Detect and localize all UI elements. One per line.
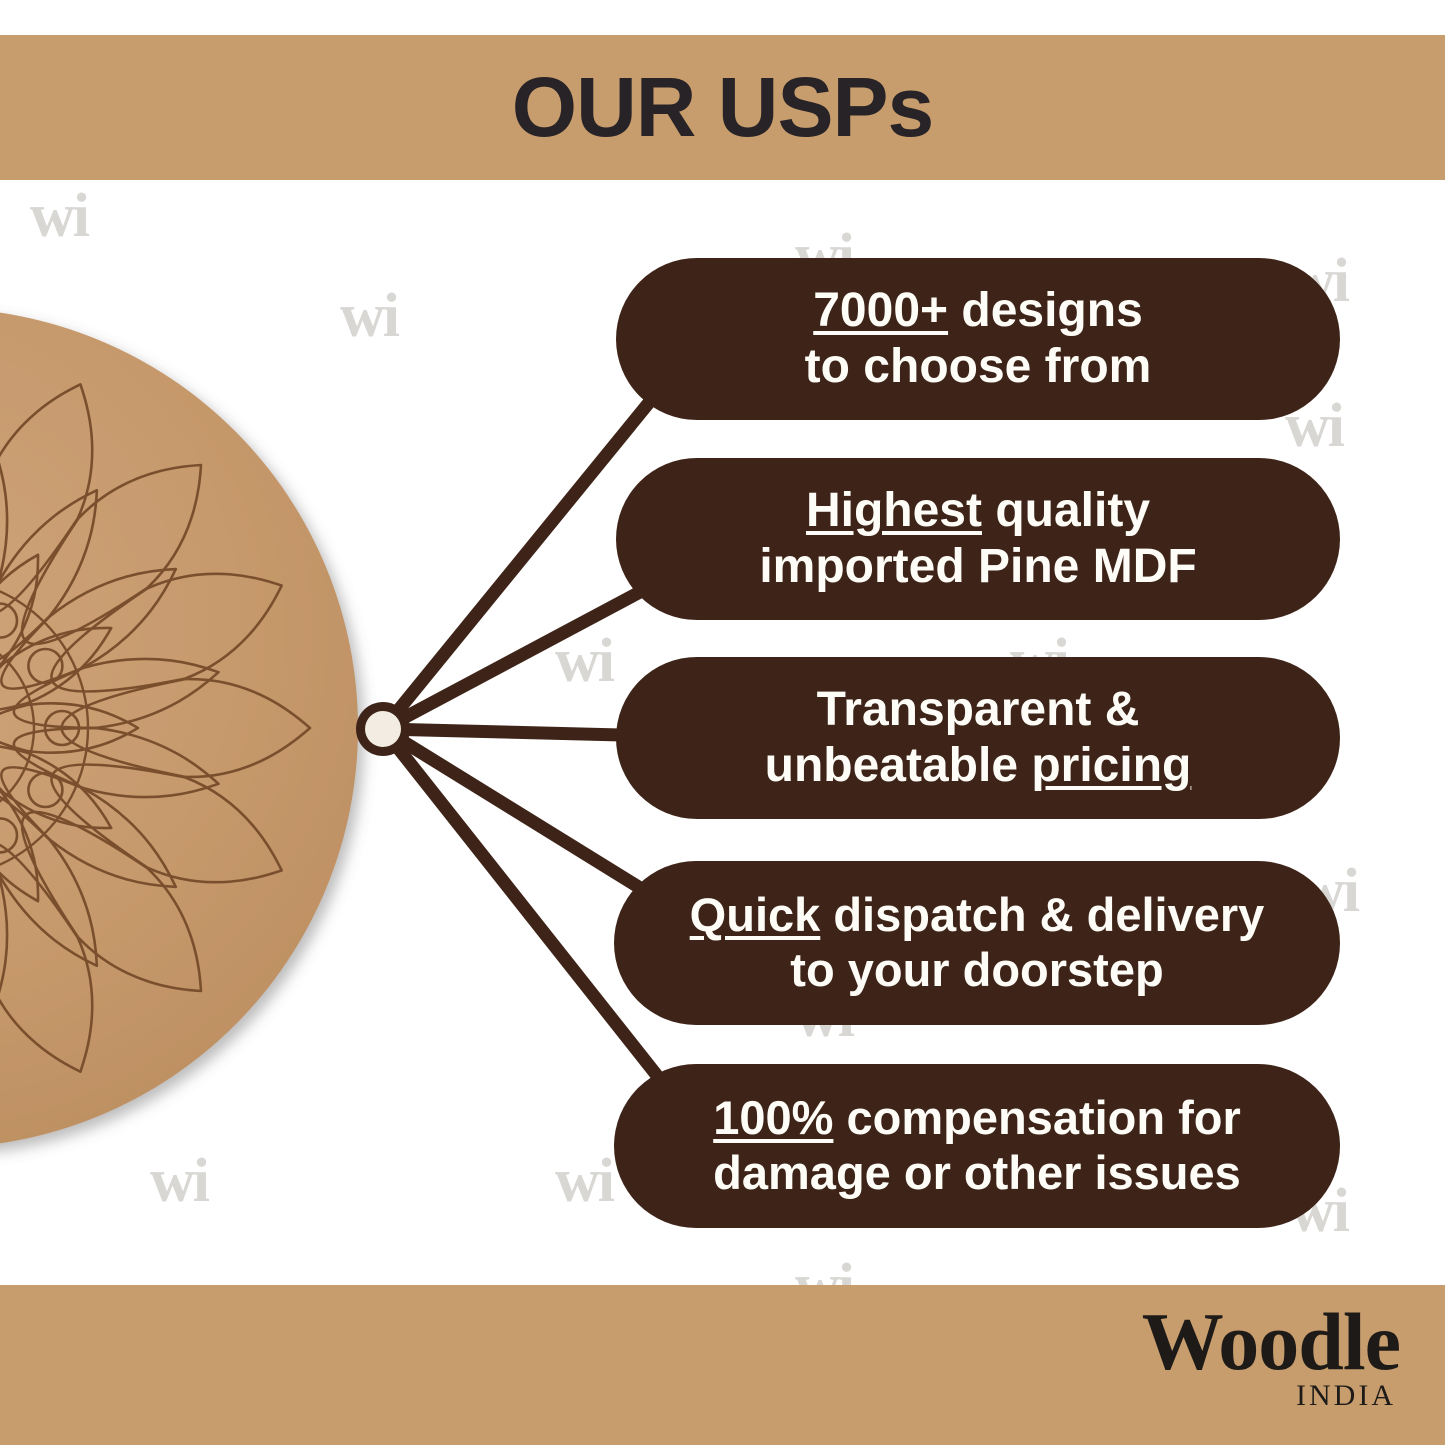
usp-pill-dispatch-line-2: to your doorstep bbox=[790, 943, 1163, 998]
usp-highlight: Highest bbox=[806, 484, 982, 537]
page-title: OUR USPs bbox=[512, 59, 933, 156]
infographic-canvas: wiwiwiwiwiwiwiwiwiwiwiwiwiwiwi bbox=[0, 0, 1445, 1445]
usp-highlight: 100% bbox=[713, 1091, 833, 1144]
usp-pill-designs[interactable]: 7000+ designsto choose from bbox=[616, 258, 1340, 420]
usp-text: imported Pine MDF bbox=[759, 540, 1196, 593]
usp-text: to choose from bbox=[805, 340, 1152, 393]
usp-highlight: Quick bbox=[690, 888, 821, 941]
usp-pill-quality[interactable]: Highest qualityimported Pine MDF bbox=[616, 458, 1340, 620]
usp-highlight: 7000+ bbox=[813, 284, 948, 337]
usp-text: designs bbox=[948, 284, 1143, 337]
usp-pill-compensation-line-1: 100% compensation for bbox=[713, 1091, 1241, 1146]
usp-pill-designs-line-1: 7000+ designs bbox=[813, 283, 1143, 339]
usp-text: compensation for bbox=[833, 1091, 1240, 1144]
usp-pill-pricing[interactable]: Transparent &unbeatable pricing bbox=[616, 657, 1340, 819]
usp-pill-quality-line-2: imported Pine MDF bbox=[759, 539, 1196, 595]
usp-pill-compensation-line-2: damage or other issues bbox=[713, 1146, 1241, 1201]
usp-pill-dispatch[interactable]: Quick dispatch & deliveryto your doorste… bbox=[614, 861, 1340, 1025]
brand-name: Woodle bbox=[1142, 1303, 1400, 1381]
usp-text: Transparent & bbox=[817, 683, 1140, 736]
header-banner: OUR USPs bbox=[0, 35, 1445, 180]
brand-logo: Woodle INDIA bbox=[1142, 1303, 1400, 1413]
usp-pill-compensation[interactable]: 100% compensation fordamage or other iss… bbox=[614, 1064, 1340, 1228]
usp-pill-quality-line-1: Highest quality bbox=[806, 483, 1150, 539]
usp-pill-pricing-line-1: Transparent & bbox=[817, 682, 1140, 738]
usp-text: quality bbox=[982, 484, 1150, 537]
usp-pill-pricing-line-2: unbeatable pricing bbox=[765, 738, 1192, 794]
usp-text: to your doorstep bbox=[790, 943, 1163, 996]
usp-text: dispatch & delivery bbox=[820, 888, 1264, 941]
usp-highlight: pricing bbox=[1031, 739, 1191, 792]
usp-text: damage or other issues bbox=[713, 1146, 1241, 1199]
usp-pill-dispatch-line-1: Quick dispatch & delivery bbox=[690, 888, 1265, 943]
usp-list: 7000+ designsto choose fromHighest quali… bbox=[0, 0, 1445, 1445]
usp-pill-designs-line-2: to choose from bbox=[805, 339, 1152, 395]
usp-text: unbeatable bbox=[765, 739, 1032, 792]
footer-banner: Woodle INDIA bbox=[0, 1285, 1445, 1445]
